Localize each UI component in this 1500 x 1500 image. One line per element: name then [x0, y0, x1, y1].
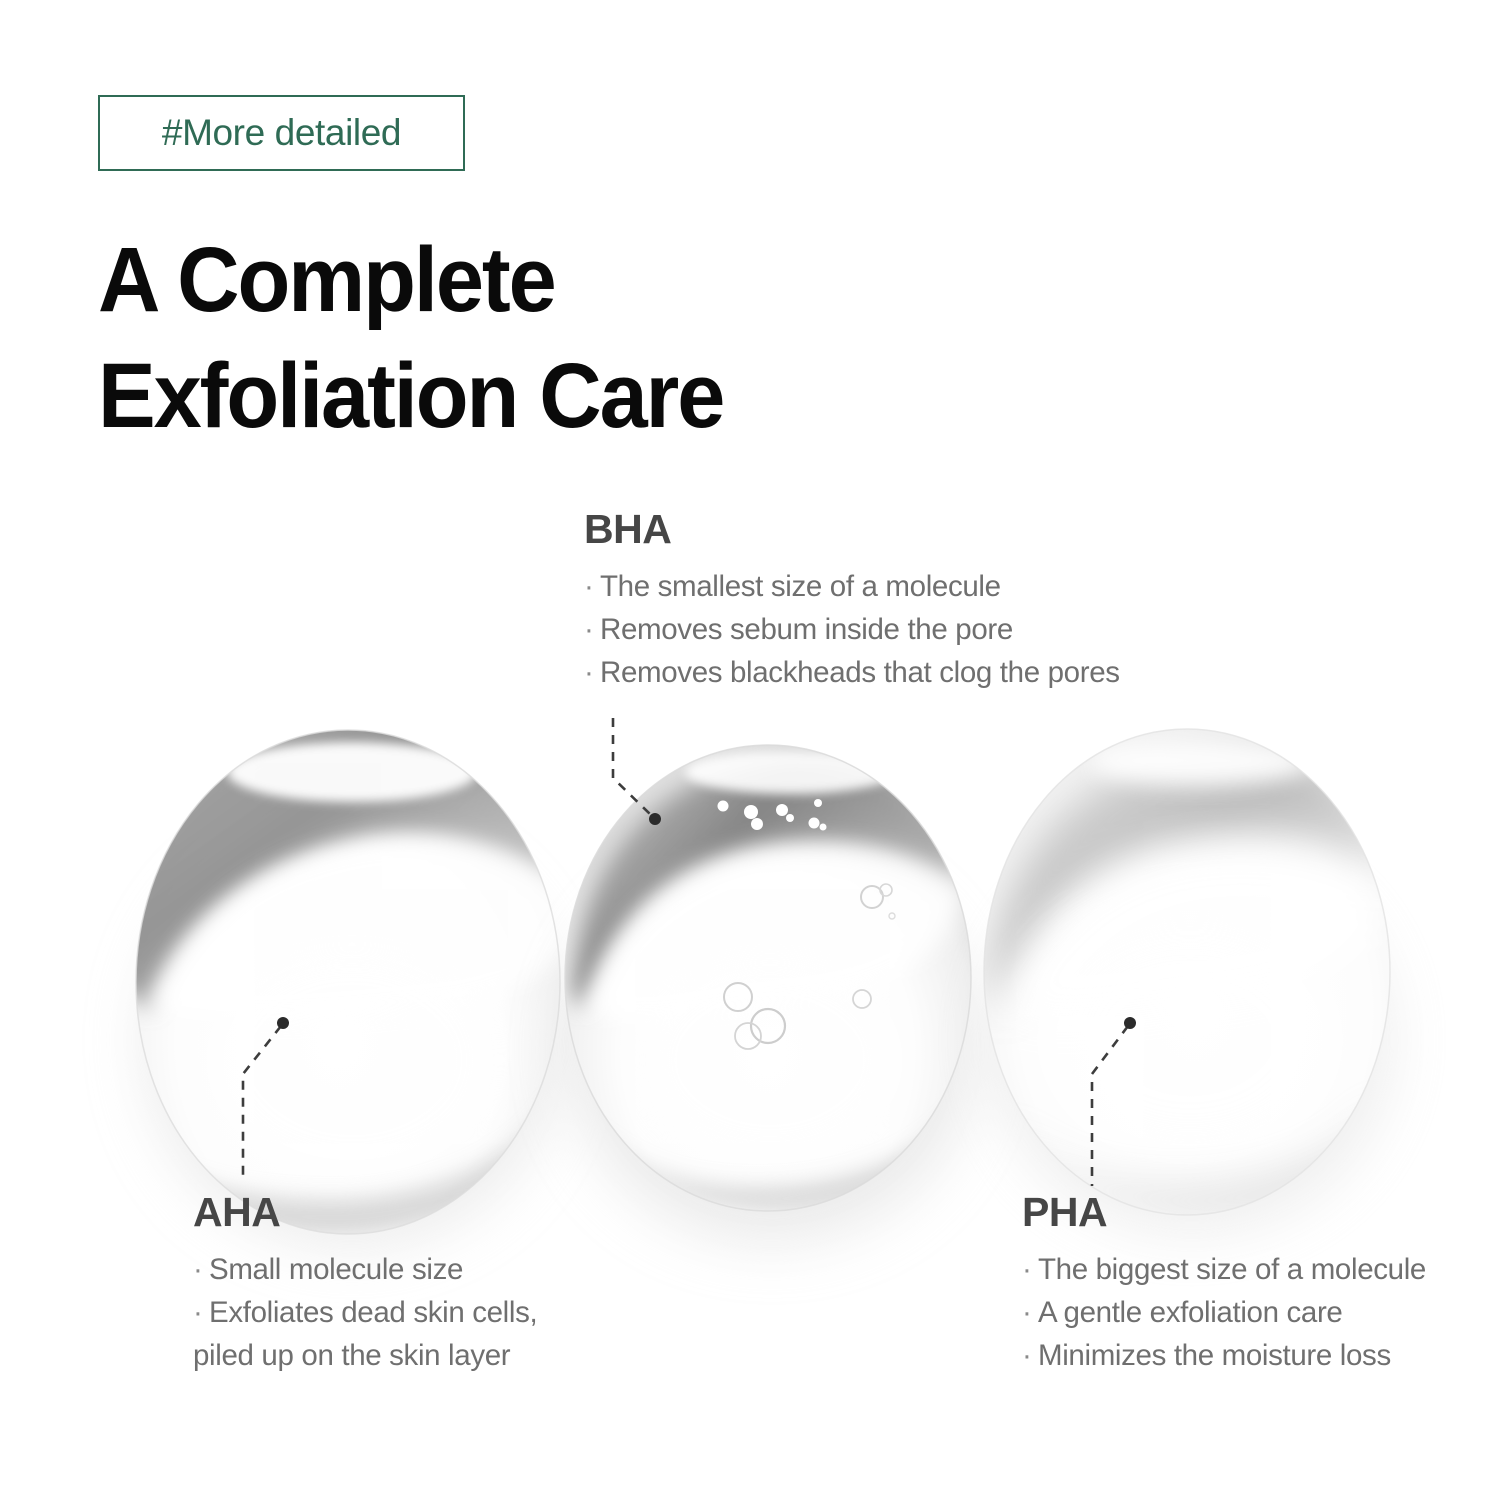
pha-bullet-1-text: The biggest size of a molecule: [1038, 1253, 1426, 1286]
bullet-dot-icon: ·: [584, 651, 600, 694]
bullet-dot-icon: ·: [193, 1291, 209, 1334]
pha-droplet: [984, 729, 1390, 1230]
bullet-dot-icon: ·: [193, 1248, 209, 1291]
bullet-dot-icon: ·: [1022, 1248, 1038, 1291]
aha-info-block: AHA ·Small molecule size ·Exfoliates dea…: [193, 1188, 553, 1377]
infographic-page: #More detailed A Complete Exfoliation Ca…: [0, 0, 1500, 1500]
bha-bullet-1-text: The smallest size of a molecule: [600, 570, 1001, 603]
aha-bullet-2-text: Exfoliates dead skin cells, piled up on …: [193, 1296, 537, 1372]
bha-bullet-3-text: Removes blackheads that clog the pores: [600, 656, 1120, 689]
bha-bullet-2-text: Removes sebum inside the pore: [600, 613, 1013, 646]
bha-bullet-2: ·Removes sebum inside the pore: [584, 608, 1120, 651]
bullet-dot-icon: ·: [1022, 1334, 1038, 1377]
pha-info-block: PHA ·The biggest size of a molecule ·A g…: [1022, 1188, 1426, 1377]
aha-droplet: [110, 711, 588, 1245]
pha-bullet-list: ·The biggest size of a molecule ·A gentl…: [1022, 1248, 1426, 1377]
pha-bullet-1: ·The biggest size of a molecule: [1022, 1248, 1426, 1291]
bha-bullet-list: ·The smallest size of a molecule ·Remove…: [584, 565, 1120, 694]
aha-bullet-list: ·Small molecule size ·Exfoliates dead sk…: [193, 1248, 553, 1377]
bullet-dot-icon: ·: [1022, 1291, 1038, 1334]
pha-bullet-2: ·A gentle exfoliation care: [1022, 1291, 1426, 1334]
aha-bullet-2: ·Exfoliates dead skin cells, piled up on…: [193, 1291, 553, 1377]
bullet-dot-icon: ·: [584, 608, 600, 651]
bha-bullet-3: ·Removes blackheads that clog the pores: [584, 651, 1120, 694]
bha-info-block: BHA ·The smallest size of a molecule ·Re…: [584, 505, 1120, 694]
pha-bullet-3-text: Minimizes the moisture loss: [1038, 1339, 1391, 1372]
bha-droplet: [565, 745, 972, 1240]
bha-bullet-1: ·The smallest size of a molecule: [584, 565, 1120, 608]
aha-bullet-1: ·Small molecule size: [193, 1248, 553, 1291]
aha-title: AHA: [193, 1188, 553, 1236]
pha-bullet-3: ·Minimizes the moisture loss: [1022, 1334, 1426, 1377]
aha-bullet-1-text: Small molecule size: [209, 1253, 463, 1286]
bha-title: BHA: [584, 505, 1120, 553]
pha-bullet-2-text: A gentle exfoliation care: [1038, 1296, 1343, 1329]
bullet-dot-icon: ·: [584, 565, 600, 608]
pha-title: PHA: [1022, 1188, 1426, 1236]
